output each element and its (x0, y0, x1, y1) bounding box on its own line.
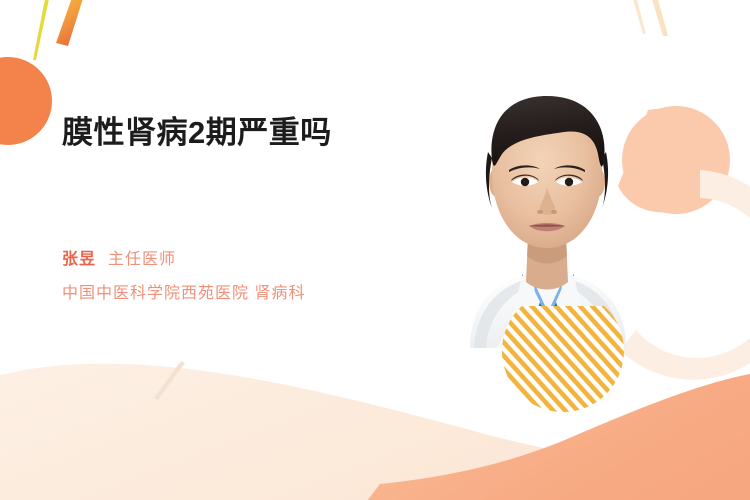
doctor-info-block: 张昱主任医师 中国中医科学院西苑医院 肾病科 (62, 247, 482, 306)
presentation-card: 膜性肾病2期严重吗 张昱主任医师 中国中医科学院西苑医院 肾病科 (0, 0, 750, 500)
decor-bottom-light-wave (0, 364, 750, 500)
eye-right (565, 178, 573, 186)
page-title: 膜性肾病2期严重吗 (62, 112, 462, 154)
doctor-name: 张昱 (62, 251, 96, 268)
decor-top-left-orange-stripe (56, 0, 85, 46)
doctor-affiliation: 中国中医科学院西苑医院 肾病科 (62, 282, 482, 306)
decor-top-right-lines (632, 0, 668, 36)
decor-top-left-yellow-line (33, 0, 50, 60)
eye-left (521, 178, 529, 186)
title-block: 膜性肾病2期严重吗 (62, 112, 462, 154)
decor-striped-circle (502, 290, 624, 412)
doctor-name-line: 张昱主任医师 (62, 247, 482, 273)
decor-bottom-faint-line (154, 361, 185, 400)
doctor-professional-title: 主任医师 (108, 251, 176, 268)
decor-orange-circle (0, 57, 52, 145)
